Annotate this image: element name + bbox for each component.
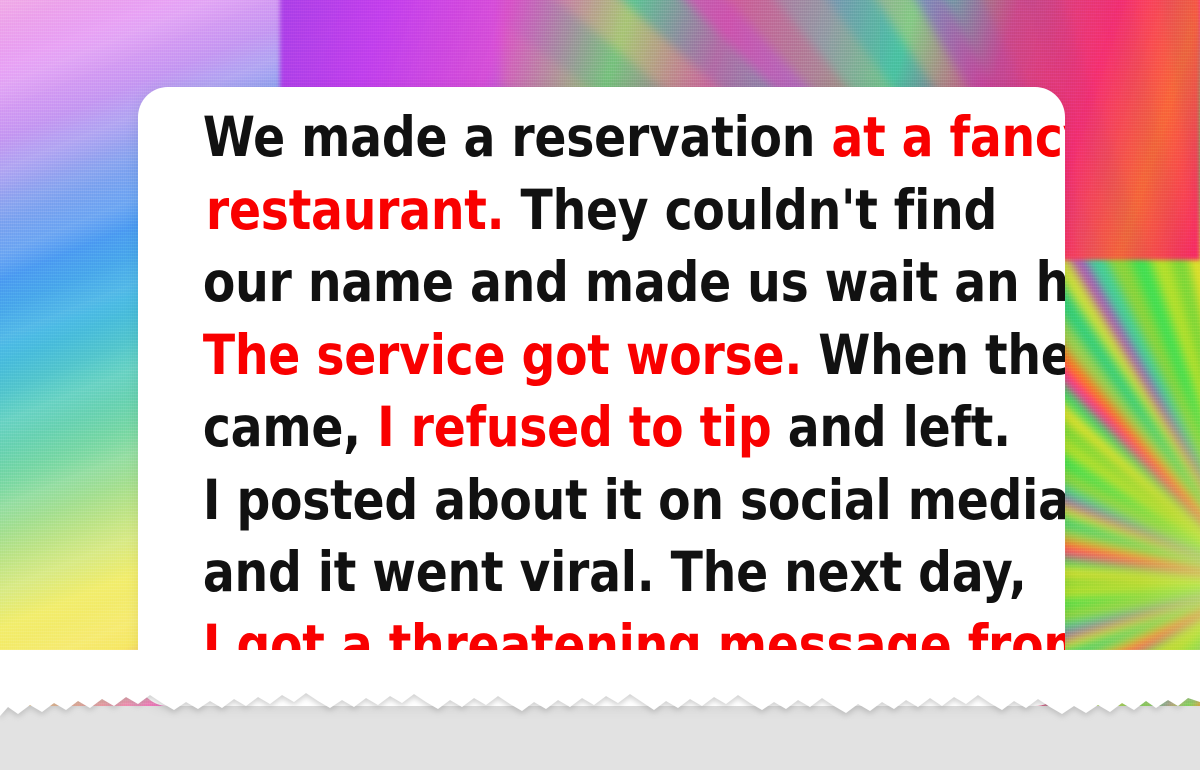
body-phrase: They couldn't find bbox=[504, 178, 997, 242]
body-phrase: and it went viral. The next day, bbox=[203, 540, 1027, 604]
story-text-line: came, I refused to tip and left. bbox=[203, 391, 1000, 464]
highlighted-phrase: I got a threatening message from bbox=[203, 613, 1065, 677]
body-phrase: I posted about it on social media, bbox=[203, 468, 1065, 532]
story-text-line: I posted about it on social media, bbox=[203, 464, 1000, 537]
highlighted-phrase: restaurant. bbox=[206, 178, 504, 242]
highlighted-phrase: I refused to tip bbox=[377, 395, 771, 459]
body-phrase: came, bbox=[203, 395, 377, 459]
body-phrase: When the bill bbox=[802, 323, 1065, 387]
body-phrase: and left. bbox=[772, 395, 1011, 459]
story-text-line: We made a reservation at a fancy bbox=[203, 101, 1000, 174]
body-phrase: We made a reservation bbox=[203, 105, 832, 169]
story-text-line: I got a threatening message from bbox=[203, 609, 1000, 682]
story-text-line: restaurant. They couldn't find bbox=[203, 174, 1000, 247]
story-text-line: our name and made us wait an hour. bbox=[203, 246, 1000, 319]
highlighted-phrase: at a fancy bbox=[831, 105, 1065, 169]
highlighted-phrase: The service got worse. bbox=[203, 323, 802, 387]
body-phrase: our name and made us wait an hour. bbox=[203, 250, 1065, 314]
story-text-line: The service got worse. When the bill bbox=[203, 319, 1000, 392]
story-card-image: We made a reservation at a fancyrestaura… bbox=[0, 0, 1200, 770]
story-text-block: We made a reservation at a fancyrestaura… bbox=[203, 101, 1000, 681]
story-text-line: and it went viral. The next day, bbox=[203, 536, 1000, 609]
white-text-card: We made a reservation at a fancyrestaura… bbox=[138, 87, 1065, 706]
